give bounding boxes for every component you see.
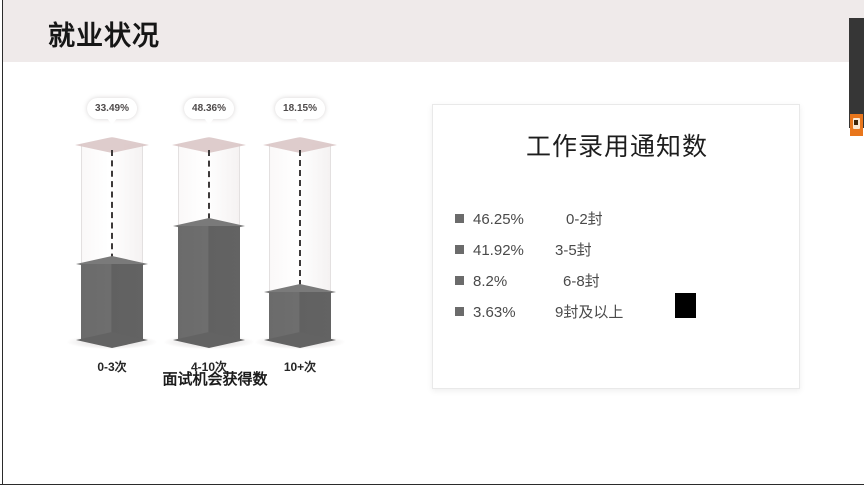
bar-front-face — [81, 264, 143, 340]
right-app-strip[interactable] — [849, 18, 864, 128]
legend-category: 9封及以上 — [555, 297, 623, 328]
bar-dashed-line — [111, 150, 113, 270]
chart-axis-title: 面试机会获得数 — [70, 368, 360, 389]
legend-category: 0-2封 — [555, 204, 603, 235]
legend-swatch-icon — [455, 276, 464, 285]
chart-column[interactable]: 18.15% 10+次 — [258, 88, 342, 393]
slide-canvas: 就业状况 33.49% 0-3次 48.36% — [0, 0, 864, 485]
card-title: 工作录用通知数 — [433, 127, 801, 163]
legend-category: 3-5封 — [555, 235, 592, 266]
legend-percent: 46.25% — [473, 204, 555, 235]
legend-swatch-icon — [455, 307, 464, 316]
job-offers-card: 工作录用通知数 46.25%0-2封 41.92%3-5封 8.2%6-8封 3… — [432, 104, 800, 389]
app-badge-icon[interactable] — [850, 114, 863, 136]
cursor-block — [675, 293, 696, 318]
legend-percent: 3.63% — [473, 297, 555, 328]
offers-legend: 46.25%0-2封 41.92%3-5封 8.2%6-8封 3.63%9封及以… — [455, 203, 785, 327]
legend-swatch-icon — [455, 245, 464, 254]
legend-item[interactable]: 41.92%3-5封 — [455, 234, 785, 265]
header-band: 就业状况 — [3, 0, 864, 62]
badge-glyph-inner — [854, 120, 858, 125]
bar-fill-block[interactable] — [178, 226, 240, 340]
chart-column[interactable]: 33.49% 0-3次 — [70, 88, 154, 393]
legend-percent: 8.2% — [473, 266, 555, 297]
page-title: 就业状况 — [48, 14, 160, 53]
bar-dashed-line — [299, 150, 301, 296]
value-callout: 18.15% — [275, 98, 325, 119]
legend-item[interactable]: 3.63%9封及以上 — [455, 296, 785, 327]
legend-category: 6-8封 — [555, 266, 600, 297]
interview-opportunities-chart: 33.49% 0-3次 48.36% 4-10次 — [70, 88, 360, 393]
value-callout: 33.49% — [87, 98, 137, 119]
legend-swatch-icon — [455, 214, 464, 223]
value-callout: 48.36% — [184, 98, 234, 119]
bar-fill-block[interactable] — [81, 264, 143, 340]
bar-fill-block[interactable] — [269, 292, 331, 340]
bar-front-face — [178, 226, 240, 340]
legend-item[interactable]: 8.2%6-8封 — [455, 265, 785, 296]
chart-column[interactable]: 48.36% 4-10次 — [167, 88, 251, 393]
legend-percent: 41.92% — [473, 235, 555, 266]
legend-item[interactable]: 46.25%0-2封 — [455, 203, 785, 234]
left-edge-rule — [2, 0, 3, 485]
